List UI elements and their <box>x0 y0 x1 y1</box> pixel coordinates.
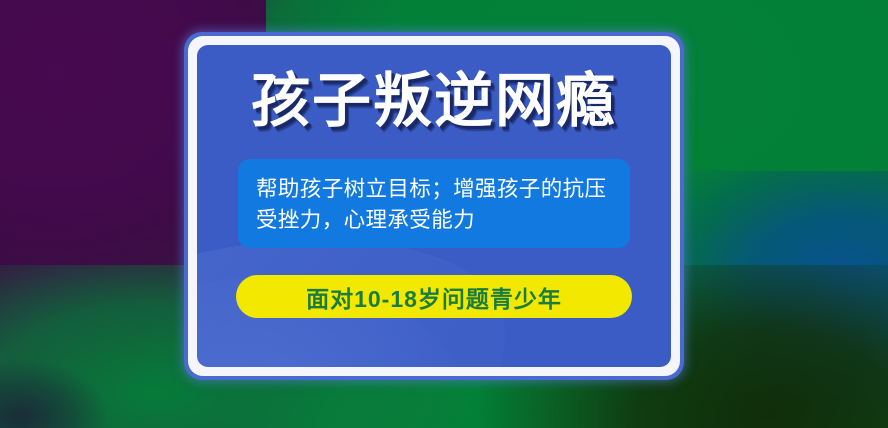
headline-title: 孩子叛逆网瘾 <box>251 72 617 131</box>
cta-button[interactable]: 面对10-18岁问题青少年 <box>236 275 632 318</box>
backdrop-slate-corner <box>0 360 107 428</box>
card-body: 孩子叛逆网瘾 帮助孩子树立目标；增强孩子的抗压受挫力，心理承受能力 面对10-1… <box>197 45 671 367</box>
card-white-border: 孩子叛逆网瘾 帮助孩子树立目标；增强孩子的抗压受挫力，心理承受能力 面对10-1… <box>188 36 680 376</box>
promo-card: 孩子叛逆网瘾 帮助孩子树立目标；增强孩子的抗压受挫力，心理承受能力 面对10-1… <box>184 32 684 380</box>
subtitle-panel: 帮助孩子树立目标；增强孩子的抗压受挫力，心理承受能力 <box>238 159 630 248</box>
card-content: 孩子叛逆网瘾 帮助孩子树立目标；增强孩子的抗压受挫力，心理承受能力 面对10-1… <box>197 45 671 367</box>
banner-stage: 孩子叛逆网瘾 帮助孩子树立目标；增强孩子的抗压受挫力，心理承受能力 面对10-1… <box>0 0 888 428</box>
cta-button-label: 面对10-18岁问题青少年 <box>306 280 562 314</box>
subtitle-text: 帮助孩子树立目标；增强孩子的抗压受挫力，心理承受能力 <box>256 174 612 235</box>
